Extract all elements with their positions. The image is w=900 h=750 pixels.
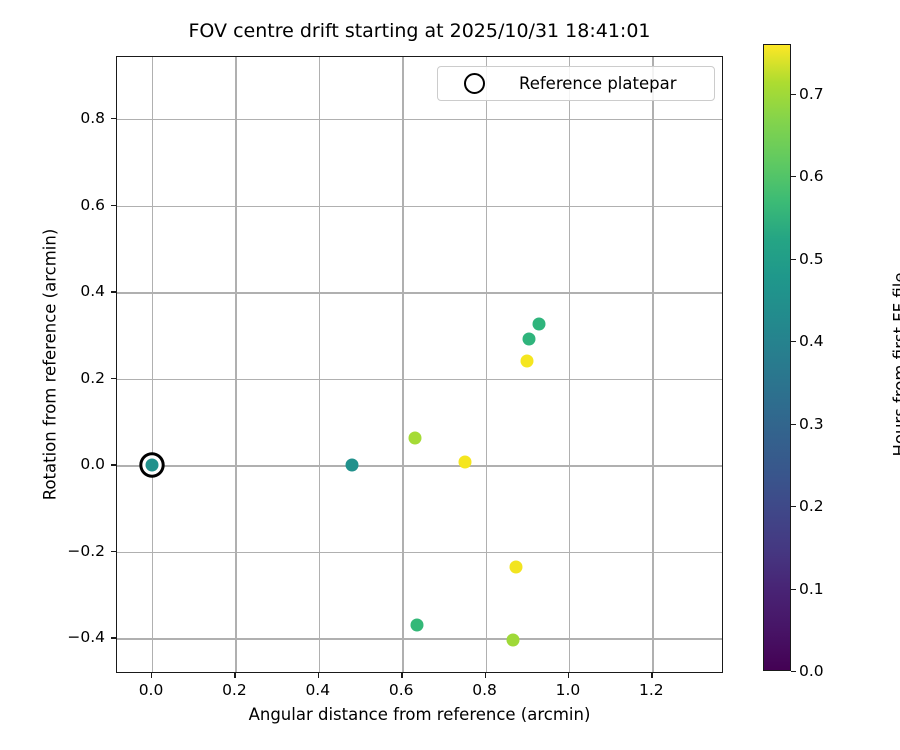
x-tick-label: 1.2 [639,681,664,699]
colorbar-tick-label: 0.7 [799,85,824,103]
y-tick-mark [111,118,116,119]
y-axis-label: Rotation from reference (arcmin) [41,55,60,675]
datapoint [523,333,536,346]
datapoint [521,355,534,368]
y-tick-mark [111,551,116,552]
colorbar-tick-mark [791,259,796,260]
gridline-horizontal [117,206,722,207]
colorbar-tick-mark [791,589,796,590]
x-tick-label: 0.0 [139,681,164,699]
gridline-vertical [152,57,153,672]
y-tick-mark [111,205,116,206]
gridline-vertical [319,57,320,672]
colorbar-tick-label: 0.1 [799,580,824,598]
datapoint [346,459,359,472]
gridline-vertical [235,57,236,672]
y-tick-label: 0.6 [80,196,105,214]
gridline-vertical [486,57,487,672]
legend: Reference platepar [437,66,715,101]
gridline-horizontal [117,552,722,553]
colorbar-tick-label: 0.6 [799,167,824,185]
plot-area [116,56,723,673]
colorbar-tick-mark [791,94,796,95]
x-tick-label: 0.4 [305,681,330,699]
x-tick-mark [401,673,402,678]
x-tick-mark [485,673,486,678]
gridline-horizontal [117,638,722,639]
gridline-vertical [402,57,403,672]
y-tick-label: −0.2 [67,542,105,560]
y-tick-mark [111,378,116,379]
datapoint [458,455,471,468]
y-tick-label: 0.0 [80,455,105,473]
reference-platepar-marker-icon [464,73,485,94]
datapoint [411,618,424,631]
colorbar-tick-mark [791,506,796,507]
colorbar-tick-mark [791,341,796,342]
x-tick-mark [568,673,569,678]
gridline-horizontal [117,465,722,466]
datapoint [509,561,522,574]
datapoint [408,432,421,445]
datapoint [507,634,520,647]
colorbar-tick-label: 0.3 [799,415,824,433]
colorbar-tick-mark [791,671,796,672]
plot-inner [117,57,722,672]
x-tick-mark [234,673,235,678]
x-tick-mark [318,673,319,678]
x-axis-label: Angular distance from reference (arcmin) [116,705,723,724]
colorbar-tick-label: 0.0 [799,662,824,680]
gridline-vertical [569,57,570,672]
y-tick-label: 0.8 [80,109,105,127]
gridline-horizontal [117,292,722,293]
y-tick-mark [111,637,116,638]
colorbar-tick-label: 0.4 [799,332,824,350]
gridline-horizontal [117,119,722,120]
x-tick-mark [151,673,152,678]
chart-page: FOV centre drift starting at 2025/10/31 … [0,0,900,750]
y-tick-label: 0.4 [80,282,105,300]
reference-datapoint [146,459,159,472]
gridline-horizontal [117,379,722,380]
colorbar: 0.00.10.20.30.40.50.60.7 [763,44,791,671]
y-tick-mark [111,464,116,465]
colorbar-gradient [763,44,791,671]
x-tick-label: 0.6 [389,681,414,699]
datapoint [532,317,545,330]
colorbar-tick-mark [791,424,796,425]
y-tick-mark [111,291,116,292]
colorbar-label: Hours from first FF file [891,55,900,675]
x-tick-mark [651,673,652,678]
legend-item-label: Reference platepar [519,74,677,93]
y-tick-label: −0.4 [67,628,105,646]
page-title: FOV centre drift starting at 2025/10/31 … [116,20,723,42]
gridline-vertical [652,57,653,672]
colorbar-tick-label: 0.5 [799,250,824,268]
x-tick-label: 0.2 [222,681,247,699]
colorbar-tick-mark [791,176,796,177]
x-tick-label: 0.8 [472,681,497,699]
y-tick-label: 0.2 [80,369,105,387]
x-tick-label: 1.0 [556,681,581,699]
colorbar-tick-label: 0.2 [799,497,824,515]
